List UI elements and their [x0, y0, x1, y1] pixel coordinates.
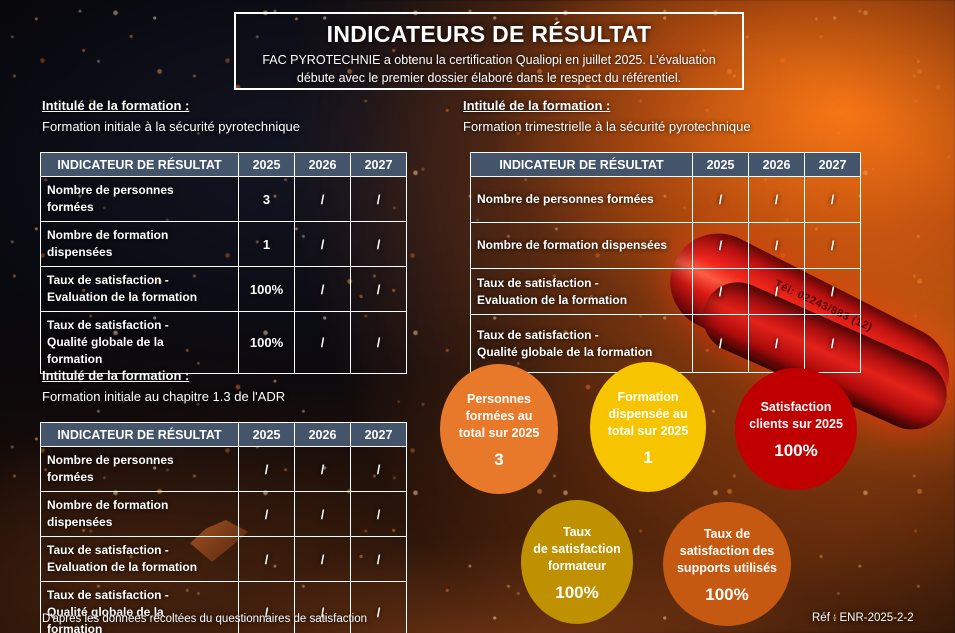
row-label: Nombre de personnes formées	[41, 447, 239, 492]
formation-heading-3: Intitulé de la formation : Formation ini…	[42, 368, 285, 404]
table-indicateurs-3: INDICATEUR DE RÉSULTAT 2025 2026 2027 No…	[40, 422, 407, 633]
table-row: Taux de satisfaction - Qualité globale d…	[471, 315, 861, 373]
row-label-line: Taux de satisfaction -	[47, 587, 232, 604]
circle-value: 100%	[705, 586, 748, 603]
row-label-line: dispensées	[47, 514, 232, 531]
row-label: Taux de satisfaction - Qualité globale d…	[41, 582, 239, 633]
cell-2027: /	[351, 582, 407, 633]
circle-label-line: total sur 2025	[459, 425, 540, 442]
row-label-line: Nombre de formation	[47, 497, 232, 514]
cell-2025: /	[239, 447, 295, 492]
cell-2027: /	[805, 269, 861, 315]
cell-2025: /	[239, 537, 295, 582]
cell-2026: /	[295, 312, 351, 374]
cell-2027: /	[805, 315, 861, 373]
col-indicateur: INDICATEUR DE RÉSULTAT	[471, 153, 693, 177]
circle-label-line: clients sur 2025	[749, 416, 843, 433]
row-label-line: Evaluation de la formation	[47, 559, 232, 576]
row-label: Nombre de formation dispensées	[41, 492, 239, 537]
kpi-circle-personnes-formees: Personnes formées au total sur 2025 3	[440, 364, 558, 494]
row-label-line: formation	[47, 351, 232, 368]
circle-label-line: Formation	[617, 389, 678, 406]
cell-2026: /	[295, 582, 351, 633]
table-row: Taux de satisfaction - Qualité globale d…	[41, 312, 407, 374]
formation-name-3: Formation initiale au chapitre 1.3 de l'…	[42, 389, 285, 404]
formation-label-1: Intitulé de la formation :	[42, 98, 189, 113]
formation-label-3: Intitulé de la formation :	[42, 368, 189, 383]
table-row: Nombre de personnes formées / / /	[471, 177, 861, 223]
row-label-line: Taux de satisfaction -	[47, 317, 232, 334]
table-row: Nombre de personnes formées 3 / /	[41, 177, 407, 222]
circle-label-line: Taux	[563, 524, 591, 541]
row-label-line: Taux de satisfaction -	[47, 272, 232, 289]
cell-2027: /	[351, 177, 407, 222]
cell-2025: 1	[239, 222, 295, 267]
col-2025: 2025	[239, 423, 295, 447]
cell-2026: /	[749, 315, 805, 373]
kpi-circle-satisfaction-supports: Taux de satisfaction des supports utilis…	[663, 502, 791, 626]
table-header-row: INDICATEUR DE RÉSULTAT 2025 2026 2027	[471, 153, 861, 177]
cell-2026: /	[749, 177, 805, 223]
formation-label-2: Intitulé de la formation :	[463, 98, 610, 113]
row-label: Nombre de personnes formées	[471, 177, 693, 223]
footer-note: D'après les données récoltées du questio…	[42, 613, 367, 625]
cell-2025: /	[693, 177, 749, 223]
table-row: Taux de satisfaction - Qualité globale d…	[41, 582, 407, 633]
table-row: Nombre de formation dispensées / / /	[41, 492, 407, 537]
row-label: Nombre de personnes formées	[41, 177, 239, 222]
row-label-line: Nombre de formation	[47, 227, 232, 244]
formation-heading-1: Intitulé de la formation : Formation ini…	[42, 98, 300, 134]
row-label-line: Evaluation de la formation	[477, 292, 686, 309]
page-title: INDICATEURS DE RÉSULTAT	[246, 20, 732, 48]
row-label: Taux de satisfaction - Evaluation de la …	[471, 269, 693, 315]
table-row: Taux de satisfaction - Evaluation de la …	[41, 537, 407, 582]
row-label-line: Taux de satisfaction -	[47, 542, 232, 559]
cell-2025: /	[693, 223, 749, 269]
table-indicateurs-1: INDICATEUR DE RÉSULTAT 2025 2026 2027 No…	[40, 152, 407, 374]
circle-value: 3	[494, 451, 503, 468]
cell-2027: /	[351, 312, 407, 374]
cell-2025: 100%	[239, 267, 295, 312]
cell-2025: /	[693, 315, 749, 373]
col-2026: 2026	[295, 153, 351, 177]
col-2027: 2027	[351, 153, 407, 177]
title-box: INDICATEURS DE RÉSULTAT FAC PYROTECHNIE …	[234, 12, 744, 90]
kpi-circle-satisfaction-formateur: Taux de satisfaction formateur 100%	[521, 500, 633, 624]
cell-2026: /	[295, 447, 351, 492]
row-label-line: formées	[47, 469, 232, 486]
poster-root: Tél: 02243/883 (12) INDICATEURS DE RÉSUL…	[0, 0, 955, 633]
cell-2025: /	[693, 269, 749, 315]
formation-heading-2: Intitulé de la formation : Formation tri…	[463, 98, 751, 134]
row-label: Nombre de formation dispensées	[41, 222, 239, 267]
cell-2026: /	[749, 223, 805, 269]
table-indicateurs-2: INDICATEUR DE RÉSULTAT 2025 2026 2027 No…	[470, 152, 861, 373]
col-2027: 2027	[351, 423, 407, 447]
cell-2027: /	[351, 492, 407, 537]
row-label: Nombre de formation dispensées	[471, 223, 693, 269]
table-row: Nombre de formation dispensées / / /	[471, 223, 861, 269]
cell-2027: /	[351, 267, 407, 312]
col-indicateur: INDICATEUR DE RÉSULTAT	[41, 423, 239, 447]
row-label-line: dispensées	[47, 244, 232, 261]
page-subtitle: FAC PYROTECHNIE a obtenu la certificatio…	[246, 51, 732, 87]
cell-2025: 3	[239, 177, 295, 222]
formation-name-2: Formation trimestrielle à la sécurité py…	[463, 119, 751, 134]
cell-2027: /	[351, 222, 407, 267]
cell-2027: /	[805, 223, 861, 269]
col-indicateur: INDICATEUR DE RÉSULTAT	[41, 153, 239, 177]
circle-label-line: total sur 2025	[608, 423, 689, 440]
row-label: Taux de satisfaction - Evaluation de la …	[41, 267, 239, 312]
row-label-line: Qualité globale de la	[47, 334, 232, 351]
document-reference: Réf : ENR-2025-2-2	[812, 612, 914, 624]
row-label-line: Nombre de personnes	[47, 452, 232, 469]
circle-value: 100%	[555, 584, 598, 601]
cell-2027: /	[351, 537, 407, 582]
cell-2027: /	[805, 177, 861, 223]
cell-2025: /	[239, 492, 295, 537]
circle-label-line: Personnes	[467, 391, 531, 408]
col-2025: 2025	[239, 153, 295, 177]
circle-label-line: de satisfaction	[533, 541, 621, 558]
row-label-line: formées	[47, 199, 232, 216]
kpi-circle-satisfaction-clients: Satisfaction clients sur 2025 100%	[735, 368, 857, 490]
col-2025: 2025	[693, 153, 749, 177]
cell-2026: /	[295, 492, 351, 537]
cell-2025: 100%	[239, 312, 295, 374]
row-label-line: Nombre de personnes formées	[477, 191, 686, 208]
circle-value: 100%	[774, 442, 817, 459]
circle-value: 1	[643, 449, 652, 466]
table-header-row: INDICATEUR DE RÉSULTAT 2025 2026 2027	[41, 153, 407, 177]
circle-label-line: Satisfaction	[761, 399, 832, 416]
row-label-line: Evaluation de la formation	[47, 289, 232, 306]
table-row: Nombre de personnes formées / / /	[41, 447, 407, 492]
table-header-row: INDICATEUR DE RÉSULTAT 2025 2026 2027	[41, 423, 407, 447]
row-label-line: Nombre de formation dispensées	[477, 237, 686, 254]
cell-2026: /	[295, 177, 351, 222]
circle-label-line: supports utilisés	[677, 560, 777, 577]
circle-label-line: Taux de	[704, 526, 750, 543]
cell-2027: /	[351, 447, 407, 492]
col-2026: 2026	[749, 153, 805, 177]
cell-2026: /	[749, 269, 805, 315]
col-2026: 2026	[295, 423, 351, 447]
table-row: Taux de satisfaction - Evaluation de la …	[41, 267, 407, 312]
row-label-line: Nombre de personnes	[47, 182, 232, 199]
circle-label-line: formées au	[466, 408, 533, 425]
circle-label-line: formateur	[548, 558, 606, 575]
row-label-line: Taux de satisfaction -	[477, 275, 686, 292]
row-label-line: Qualité globale de la formation	[477, 344, 686, 361]
row-label: Taux de satisfaction - Qualité globale d…	[41, 312, 239, 374]
circle-label-line: dispensée au	[608, 406, 687, 423]
cell-2026: /	[295, 537, 351, 582]
row-label-line: Taux de satisfaction -	[477, 327, 686, 344]
formation-name-1: Formation initiale à la sécurité pyrotec…	[42, 119, 300, 134]
cell-2026: /	[295, 267, 351, 312]
cell-2026: /	[295, 222, 351, 267]
circle-label-line: satisfaction des	[680, 543, 774, 560]
cell-2025: /	[239, 582, 295, 633]
row-label: Taux de satisfaction - Evaluation de la …	[41, 537, 239, 582]
col-2027: 2027	[805, 153, 861, 177]
kpi-circle-formation-dispensee: Formation dispensée au total sur 2025 1	[590, 362, 706, 492]
table-row: Taux de satisfaction - Evaluation de la …	[471, 269, 861, 315]
table-row: Nombre de formation dispensées 1 / /	[41, 222, 407, 267]
